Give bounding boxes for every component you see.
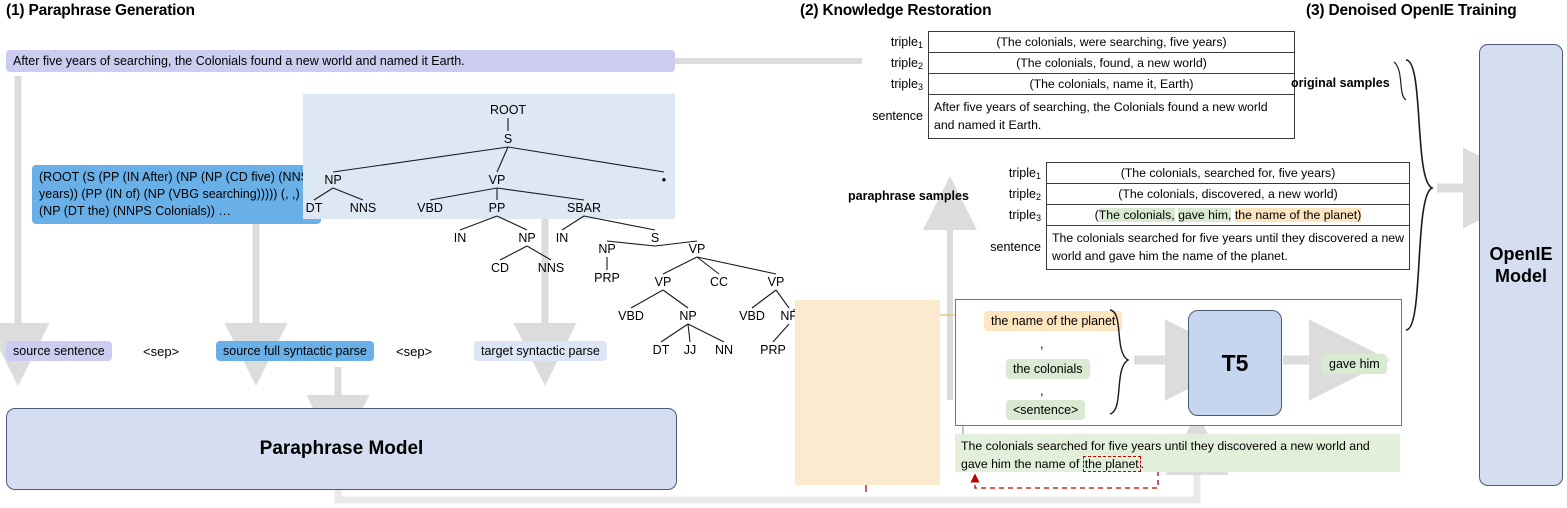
t5-output-chip: gave him: [1322, 354, 1387, 374]
original-samples-table: triple1 (The colonials, were searching, …: [862, 31, 1295, 139]
row-value: (The colonials, discovered, a new world): [1047, 184, 1410, 205]
tree-node-vp: VP: [689, 242, 706, 256]
tree-node-vp: VP: [655, 275, 672, 289]
table-row: triple1 (The colonials, were searching, …: [862, 32, 1295, 53]
target-parse-chip[interactable]: target syntactic parse: [474, 341, 607, 361]
sentence-placeholder-chip[interactable]: <sentence>: [1006, 400, 1085, 420]
triple-part: gave him,: [1178, 208, 1231, 222]
original-samples-label: original samples: [1291, 76, 1390, 90]
source-parse-chip[interactable]: source full syntactic parse: [216, 341, 374, 361]
triple-part: the name of the planet): [1235, 208, 1361, 222]
comma-1: ,: [1040, 336, 1044, 351]
tree-node-np: NP: [679, 309, 696, 323]
tree-node-•: •: [662, 173, 666, 187]
restored-sentence-box: The colonials searched for five years un…: [955, 434, 1400, 472]
tree-node-nns: NNS: [350, 201, 376, 215]
tree-node-np: NP: [324, 173, 341, 187]
tree-node-dt: DT: [653, 343, 670, 357]
table-row: triple2 (The colonials, found, a new wor…: [862, 53, 1295, 74]
sep-2: <sep>: [396, 344, 432, 359]
tree-node-cd: CD: [491, 261, 509, 275]
paraphrase-samples-label: paraphrase samples: [848, 189, 969, 203]
tree-node-in: IN: [454, 231, 467, 245]
table-row: triple3 (The colonials, gave him, the na…: [980, 205, 1410, 226]
row-value-highlighted: (The colonials, gave him, the name of th…: [1047, 205, 1410, 226]
row-value: After five years of searching, the Colon…: [929, 95, 1295, 139]
row-label-triple-2: triple2: [980, 184, 1047, 205]
table-row: sentence The colonials searched for five…: [980, 226, 1410, 270]
table-row: sentence After five years of searching, …: [862, 95, 1295, 139]
row-label-triple-3: triple3: [862, 74, 929, 95]
tree-node-sbar: SBAR: [567, 201, 601, 215]
table-row: triple1 (The colonials, searched for, fi…: [980, 163, 1410, 184]
tree-node-np: NP: [518, 231, 535, 245]
paraphrase-table: triple1 (The colonials, searched for, fi…: [980, 162, 1410, 270]
tree-node-dt: DT: [306, 201, 323, 215]
openie-model-label-line2: Model: [1495, 265, 1547, 288]
tree-node-jj: JJ: [684, 343, 697, 357]
t5-model-box[interactable]: T5: [1188, 310, 1282, 416]
tree-node-s: S: [651, 231, 659, 245]
tree-node-vbd: VBD: [618, 309, 644, 323]
tree-node-nn: NN: [715, 343, 733, 357]
tree-node-prp: PRP: [594, 271, 620, 285]
table-row: triple3 (The colonials, name it, Earth): [862, 74, 1295, 95]
tree-node-prp: PRP: [760, 343, 786, 357]
restored-sentence-boxed: the planet: [1083, 456, 1141, 472]
tree-node-vbd: VBD: [739, 309, 765, 323]
openie-model-box[interactable]: OpenIE Model: [1479, 44, 1563, 486]
triple-part: The colonials,: [1099, 208, 1175, 222]
subject-chip[interactable]: the colonials: [1006, 359, 1090, 379]
openie-model-label-line1: OpenIE: [1489, 243, 1552, 266]
row-label-sentence: sentence: [980, 226, 1047, 270]
source-sentence-chip[interactable]: source sentence: [6, 341, 112, 361]
tree-node-root: ROOT: [490, 103, 526, 117]
row-value: The colonials searched for five years un…: [1047, 226, 1410, 270]
original-table: triple1 (The colonials, were searching, …: [862, 31, 1295, 139]
tree-node-vbd: VBD: [417, 201, 443, 215]
object-chip[interactable]: the name of the planet: [984, 311, 1122, 331]
tree-node-nns: NNS: [538, 261, 564, 275]
paraphrase-samples-table: triple1 (The colonials, searched for, fi…: [980, 162, 1410, 270]
sep-1: <sep>: [143, 344, 179, 359]
tree-node-vp: VP: [768, 275, 785, 289]
row-label-triple-1: triple1: [862, 32, 929, 53]
row-value: (The colonials, were searching, five yea…: [929, 32, 1295, 53]
row-value: (The colonials, name it, Earth): [929, 74, 1295, 95]
row-label-triple-2: triple2: [862, 53, 929, 74]
restored-sentence-prefix: The colonials searched for five years un…: [961, 439, 1370, 471]
tree-node-cc: CC: [710, 275, 728, 289]
restored-sentence-suffix: .: [1141, 457, 1144, 471]
tree-node-s: S: [504, 132, 512, 146]
table-row: triple2 (The colonials, discovered, a ne…: [980, 184, 1410, 205]
row-value: (The colonials, found, a new world): [929, 53, 1295, 74]
tree-node-in: IN: [556, 231, 569, 245]
row-label-triple-1: triple1: [980, 163, 1047, 184]
tree-node-vp: VP: [489, 173, 506, 187]
row-label-sentence: sentence: [862, 95, 929, 139]
row-value: (The colonials, searched for, five years…: [1047, 163, 1410, 184]
comma-2: ,: [1040, 383, 1044, 398]
paraphrase-model-box[interactable]: Paraphrase Model: [6, 408, 677, 490]
orange-subtree-panel: [795, 300, 940, 485]
row-label-triple-3: triple3: [980, 205, 1047, 226]
tree-node-np: NP: [598, 242, 615, 256]
tree-node-pp: PP: [489, 201, 506, 215]
